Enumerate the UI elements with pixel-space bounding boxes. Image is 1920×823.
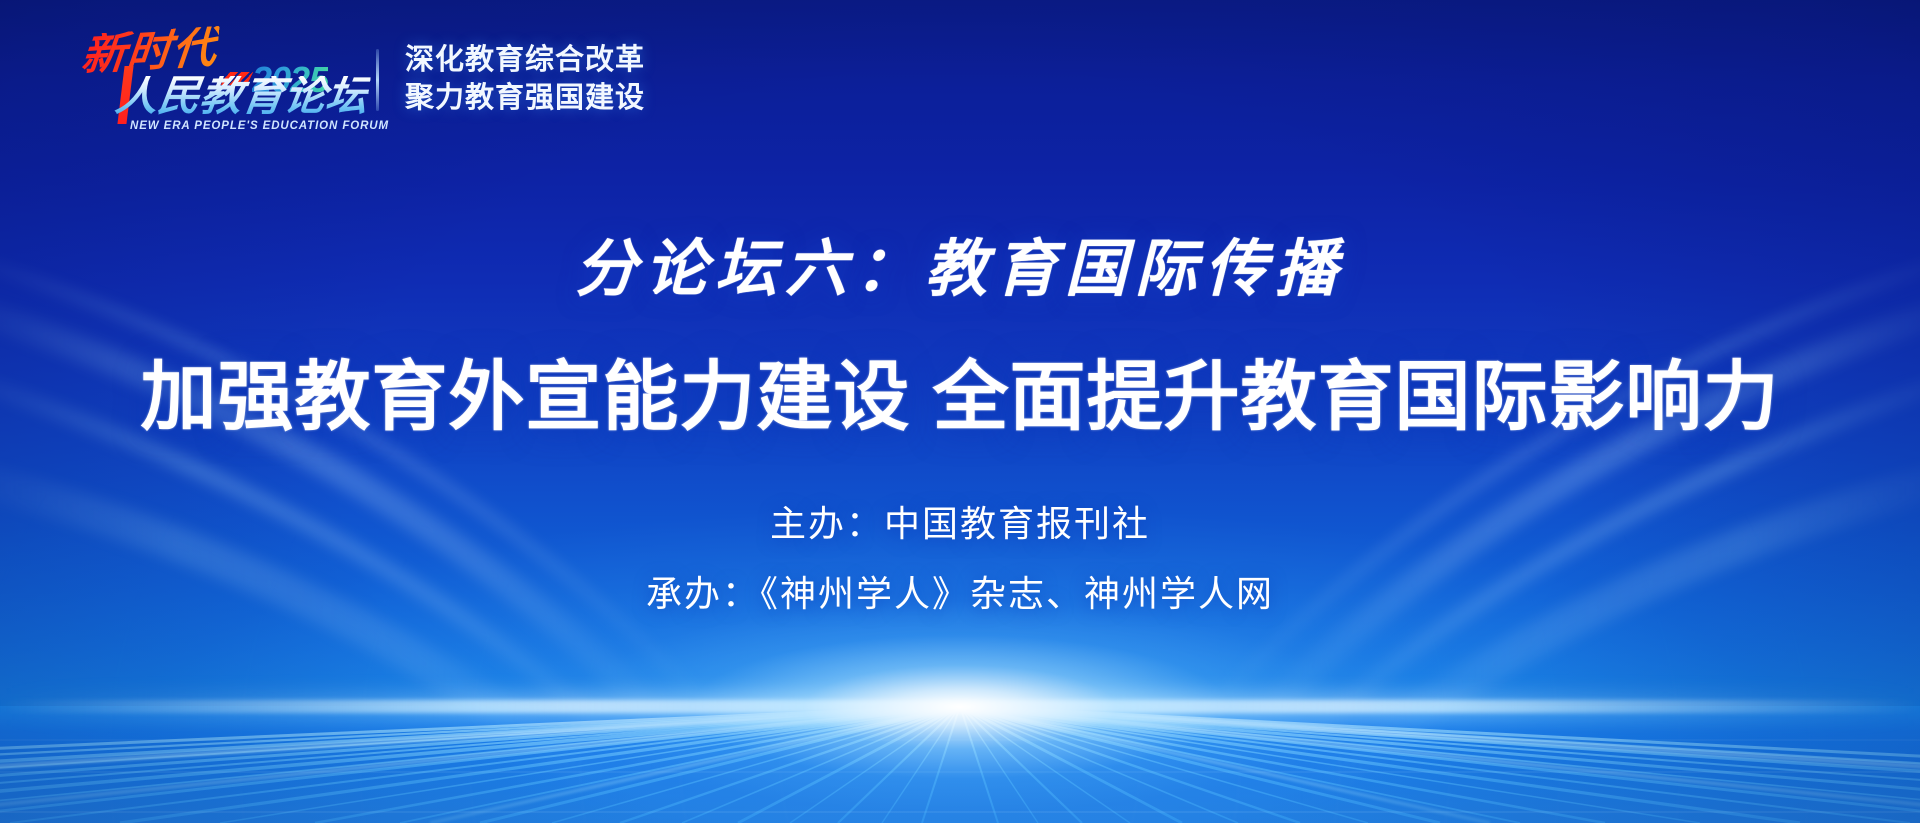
forum-banner: 新时代 2025 人民教育论坛 NEW ERA PEOPLE'S EDUCATI…: [0, 0, 1920, 823]
forum-slogan-line-2: 聚力教育强国建设: [405, 80, 645, 118]
organizer-line: 承办：《神州学人》杂志、神州学人网: [0, 565, 1920, 617]
host-line: 主办：中国教育报刊社: [0, 495, 1920, 547]
forum-slogan: 深化教育综合改革 聚力教育强国建设: [405, 42, 645, 117]
forum-logo-mark: 新时代 2025 人民教育论坛 NEW ERA PEOPLE'S EDUCATI…: [74, 28, 356, 132]
logo-forum-name: 人民教育论坛: [113, 76, 371, 118]
logo-divider: [376, 49, 379, 111]
main-headline: 加强教育外宣能力建设 全面提升教育国际影响力: [0, 335, 1920, 445]
logo-english-name: NEW ERA PEOPLE'S EDUCATION FORUM: [130, 120, 389, 132]
logo-brush-title: 新时代: [79, 26, 219, 78]
forum-logo-block: 新时代 2025 人民教育论坛 NEW ERA PEOPLE'S EDUCATI…: [74, 28, 645, 132]
forum-slogan-line-1: 深化教育综合改革: [405, 42, 645, 80]
sub-forum-subtitle: 分论坛六：教育国际传播: [0, 218, 1920, 308]
